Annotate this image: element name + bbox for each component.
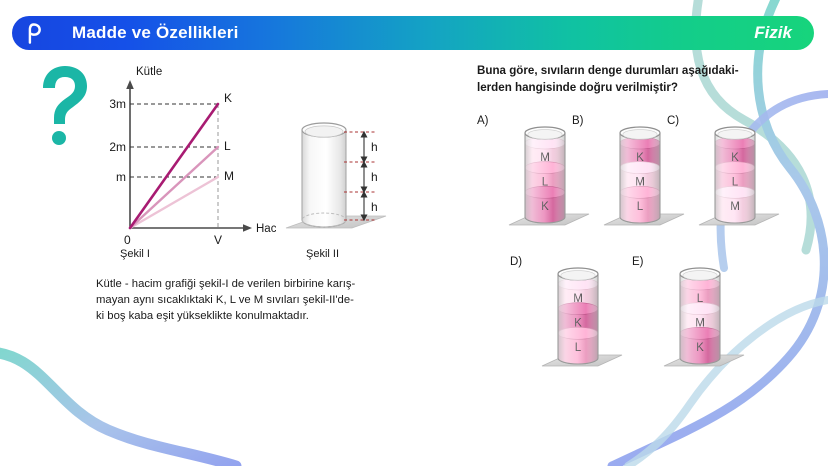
mass-volume-graph: 3m 2m m 0 V Kütle Hacim K L M <box>96 60 276 260</box>
option-b-letter: B) <box>572 115 584 127</box>
question-mark-icon <box>34 62 94 152</box>
h-label-1: h <box>371 140 378 154</box>
swoosh-bottom-left <box>0 352 236 466</box>
xtick-V: V <box>214 233 222 247</box>
option-c-figure: KLM <box>693 121 785 231</box>
option-c-letter: C) <box>667 115 679 127</box>
beaker-glass-sheen <box>680 274 720 364</box>
cylinder-rim-inner <box>305 126 343 137</box>
figure-1-caption: Şekil I <box>120 248 150 260</box>
curve-label-L: L <box>224 139 231 153</box>
problem-statement-line-3: ki boş kaba eşit yükseklikte konulmaktad… <box>96 308 396 324</box>
beaker-glass-sheen <box>620 133 660 223</box>
pi-logo-icon <box>21 20 47 46</box>
x-axis-arrow <box>243 224 252 232</box>
page-title: Madde ve Özellikleri <box>72 23 239 43</box>
option-e-letter: E) <box>632 256 644 268</box>
subject-badge: Fizik <box>754 23 792 43</box>
figure-2-caption: Şekil II <box>306 248 339 260</box>
page-root: Madde ve Özellikleri Fizik 3m 2m m 0 V K… <box>0 0 828 466</box>
ytick-3m: 3m <box>109 97 126 111</box>
curve-label-M: M <box>224 169 234 183</box>
curve-K <box>130 104 218 228</box>
origin-label: 0 <box>124 233 131 247</box>
curve-L <box>130 147 218 228</box>
option-a-letter: A) <box>477 115 489 127</box>
beaker-rim-inner <box>718 130 752 140</box>
curve-M <box>130 177 218 228</box>
problem-statement: Kütle - hacim grafiği şekil-I de verilen… <box>96 276 396 325</box>
h-label-2: h <box>371 170 378 184</box>
option-d-figure: MKL <box>536 262 628 372</box>
option-e[interactable]: E) LMK <box>632 256 752 378</box>
beaker-glass-sheen <box>715 133 755 223</box>
beaker-rim-inner <box>561 271 595 281</box>
problem-statement-line-1: Kütle - hacim grafiği şekil-I de verilen… <box>96 276 396 292</box>
ytick-m: m <box>116 170 126 184</box>
option-c[interactable]: C) KLM <box>667 115 787 237</box>
option-e-beaker: LMK <box>658 262 750 372</box>
y-axis-arrow <box>126 80 134 89</box>
question-text: Buna göre, sıvıların denge durumları aşa… <box>477 62 787 96</box>
h-arrow-1-head-up <box>361 132 366 137</box>
beaker-rim-inner <box>623 130 657 140</box>
option-e-figure: LMK <box>658 262 750 372</box>
question-line-1: Buna göre, sıvıların denge durumları aşa… <box>477 62 787 79</box>
header-bar: Madde ve Özellikleri Fizik <box>12 16 814 50</box>
empty-container-figure: h h h <box>278 112 398 248</box>
ytick-2m: 2m <box>109 140 126 154</box>
beaker-rim-inner <box>528 130 562 140</box>
beaker-rim-inner <box>683 271 717 281</box>
brand-logo[interactable] <box>20 19 48 47</box>
problem-statement-line-2: mayan aynı sıcaklıktaki K, L ve M sıvıla… <box>96 292 396 308</box>
beaker-glass-sheen <box>558 274 598 364</box>
option-d[interactable]: D) MKL <box>510 256 630 378</box>
option-d-letter: D) <box>510 256 522 268</box>
x-axis-label: Hacim <box>256 223 276 235</box>
beaker-glass-sheen <box>525 133 565 223</box>
h-label-3: h <box>371 200 378 214</box>
y-axis-label: Kütle <box>136 66 162 78</box>
option-d-beaker: MKL <box>536 262 628 372</box>
question-line-2: lerden hangisinde doğru verilmiştir? <box>477 79 787 96</box>
h-arrow-3-head-up <box>361 192 366 197</box>
curve-label-K: K <box>224 91 232 105</box>
cylinder-body <box>302 130 346 227</box>
option-c-beaker: KLM <box>693 121 785 231</box>
h-arrow-2-head-up <box>361 162 366 167</box>
